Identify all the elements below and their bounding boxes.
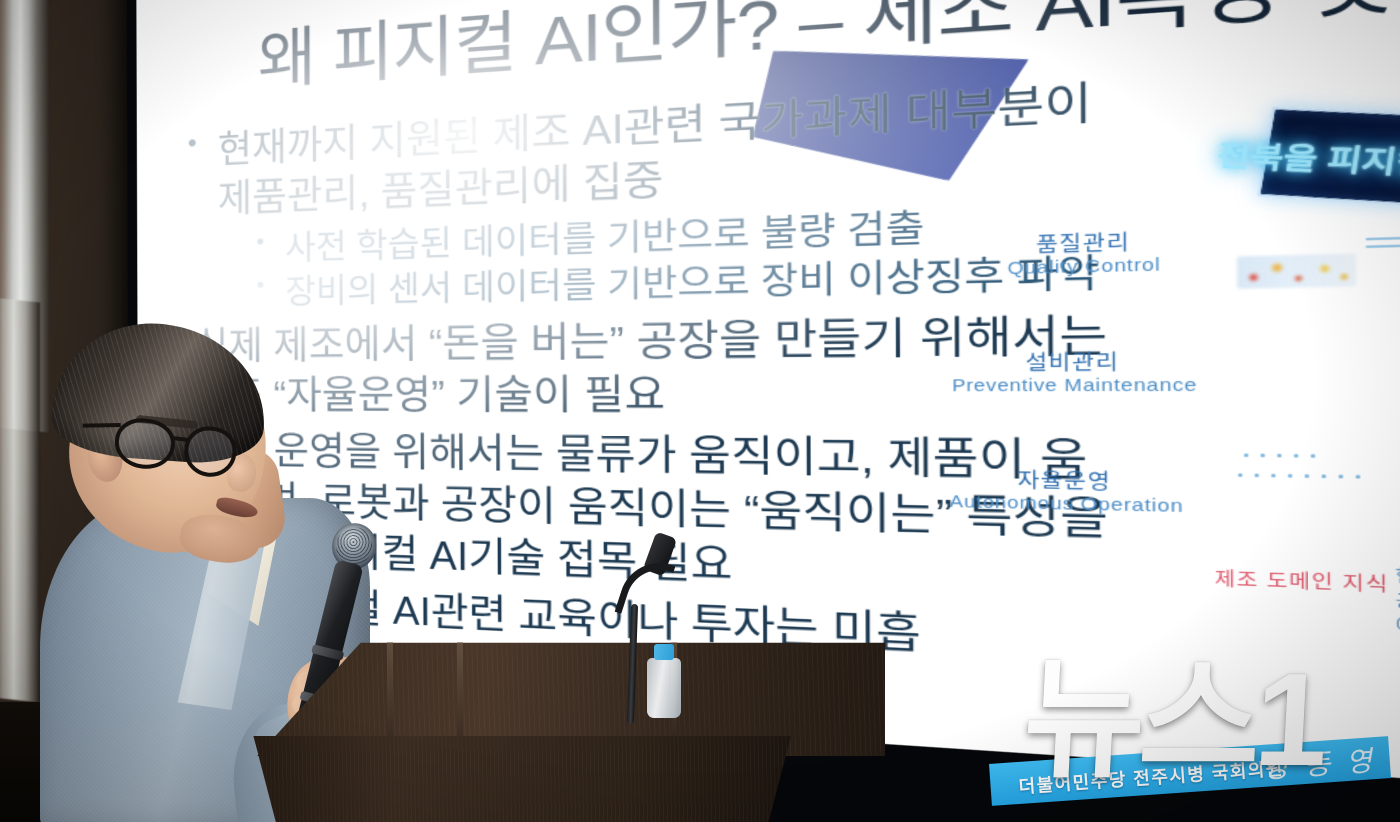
slide-diagram: 품질관리 Quality Control 설비관리 Preventive Mai… — [915, 204, 1400, 665]
diagram-label-en: Preventive Maintenance — [908, 375, 1247, 396]
diagram-text-placeholder — [1366, 235, 1400, 253]
diagram-label-preventive-maintenance: 설비관리 Preventive Maintenance — [908, 343, 1247, 395]
diagram-label-quality-control: 품질관리 Quality Control — [918, 221, 1258, 281]
lectern-base — [231, 736, 791, 822]
diagram-red-note: 제조 도메인 지식 — [1215, 565, 1389, 597]
diagram-heatmap-thumbnail — [1237, 253, 1356, 288]
news-watermark: 뉴스1 — [1020, 654, 1325, 786]
diagram-label-ko: 설비관리 — [908, 343, 1247, 376]
diagram-blue-note-line: 어려워지고 — [1395, 612, 1400, 641]
gooseneck-microphone — [609, 554, 679, 724]
diagram-dot-row — [1238, 461, 1373, 486]
lectern — [195, 632, 885, 822]
eyeglasses-lens-right — [181, 424, 239, 480]
gooseneck-stem — [627, 604, 638, 724]
eyeglasses-lens-left — [112, 415, 178, 472]
photo-stage: 왜 피지컬 AI인가? – 제조 AI특성 및 투자 현재까지 지원된 제조 A… — [0, 0, 1400, 822]
diagram-blue-note: 현장 정보 공개되지 어려워지고 — [1395, 562, 1400, 641]
eyeglasses-temple — [83, 423, 121, 428]
diagram-blue-note-line: 현장 정보 — [1395, 562, 1400, 590]
door-frame-lower — [0, 297, 40, 702]
diagram-label-autonomous-operation: 자율운영 Autonomous Operation — [900, 462, 1238, 519]
